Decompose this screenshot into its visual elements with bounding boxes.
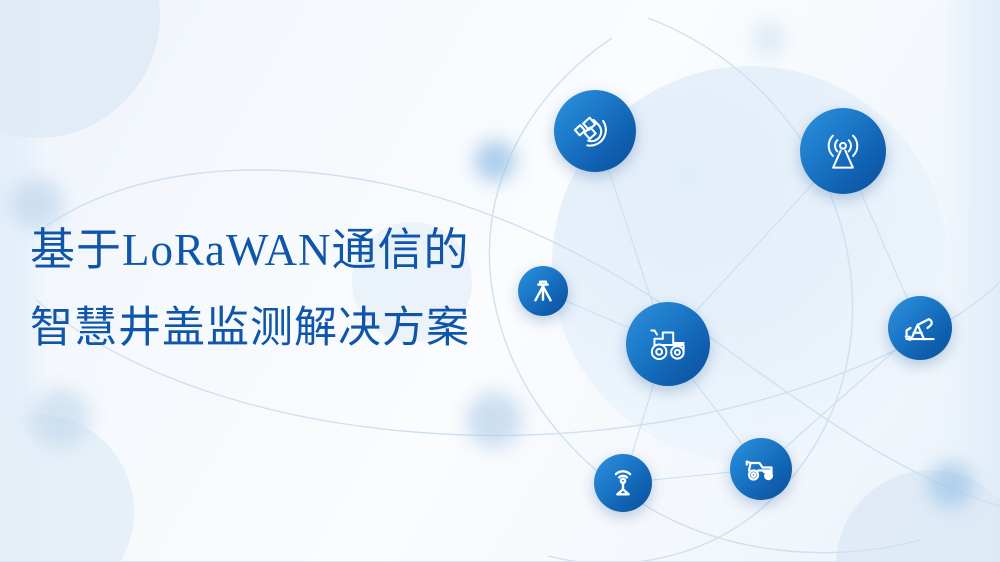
tractor-icon bbox=[643, 319, 693, 369]
node-satellite[interactable] bbox=[554, 90, 636, 172]
cover-slide: 基于LoRaWAN通信的 智慧井盖监测解决方案 bbox=[0, 0, 1000, 562]
decorative-blob bbox=[836, 470, 1000, 562]
beacon-icon bbox=[606, 466, 640, 500]
glow-dot bbox=[30, 388, 90, 448]
decorative-blob bbox=[0, 0, 160, 138]
glow-dot bbox=[928, 462, 974, 508]
title-block: 基于LoRaWAN通信的 智慧井盖监测解决方案 bbox=[28, 228, 568, 350]
node-harvester[interactable] bbox=[730, 438, 792, 500]
glow-dot bbox=[466, 392, 522, 448]
glow-dot bbox=[474, 140, 516, 182]
harvester-icon bbox=[743, 451, 779, 487]
glow-dot bbox=[752, 22, 786, 56]
node-tripod[interactable] bbox=[518, 266, 568, 316]
radio-tower-icon bbox=[818, 126, 868, 176]
satellite-icon bbox=[572, 108, 618, 154]
tripod-icon bbox=[529, 277, 557, 305]
oil-pump-icon bbox=[901, 309, 939, 347]
right-edge-band bbox=[942, 0, 1000, 562]
decorative-blob bbox=[0, 414, 134, 562]
node-radio-tower[interactable] bbox=[800, 108, 886, 194]
glow-dot bbox=[12, 178, 64, 230]
page-title-line-1: 基于LoRaWAN通信的 bbox=[28, 228, 568, 273]
page-title-line-2: 智慧井盖监测解决方案 bbox=[28, 307, 568, 350]
node-beacon[interactable] bbox=[594, 454, 652, 512]
node-tractor[interactable] bbox=[626, 302, 710, 386]
node-oil-pump[interactable] bbox=[888, 296, 952, 360]
